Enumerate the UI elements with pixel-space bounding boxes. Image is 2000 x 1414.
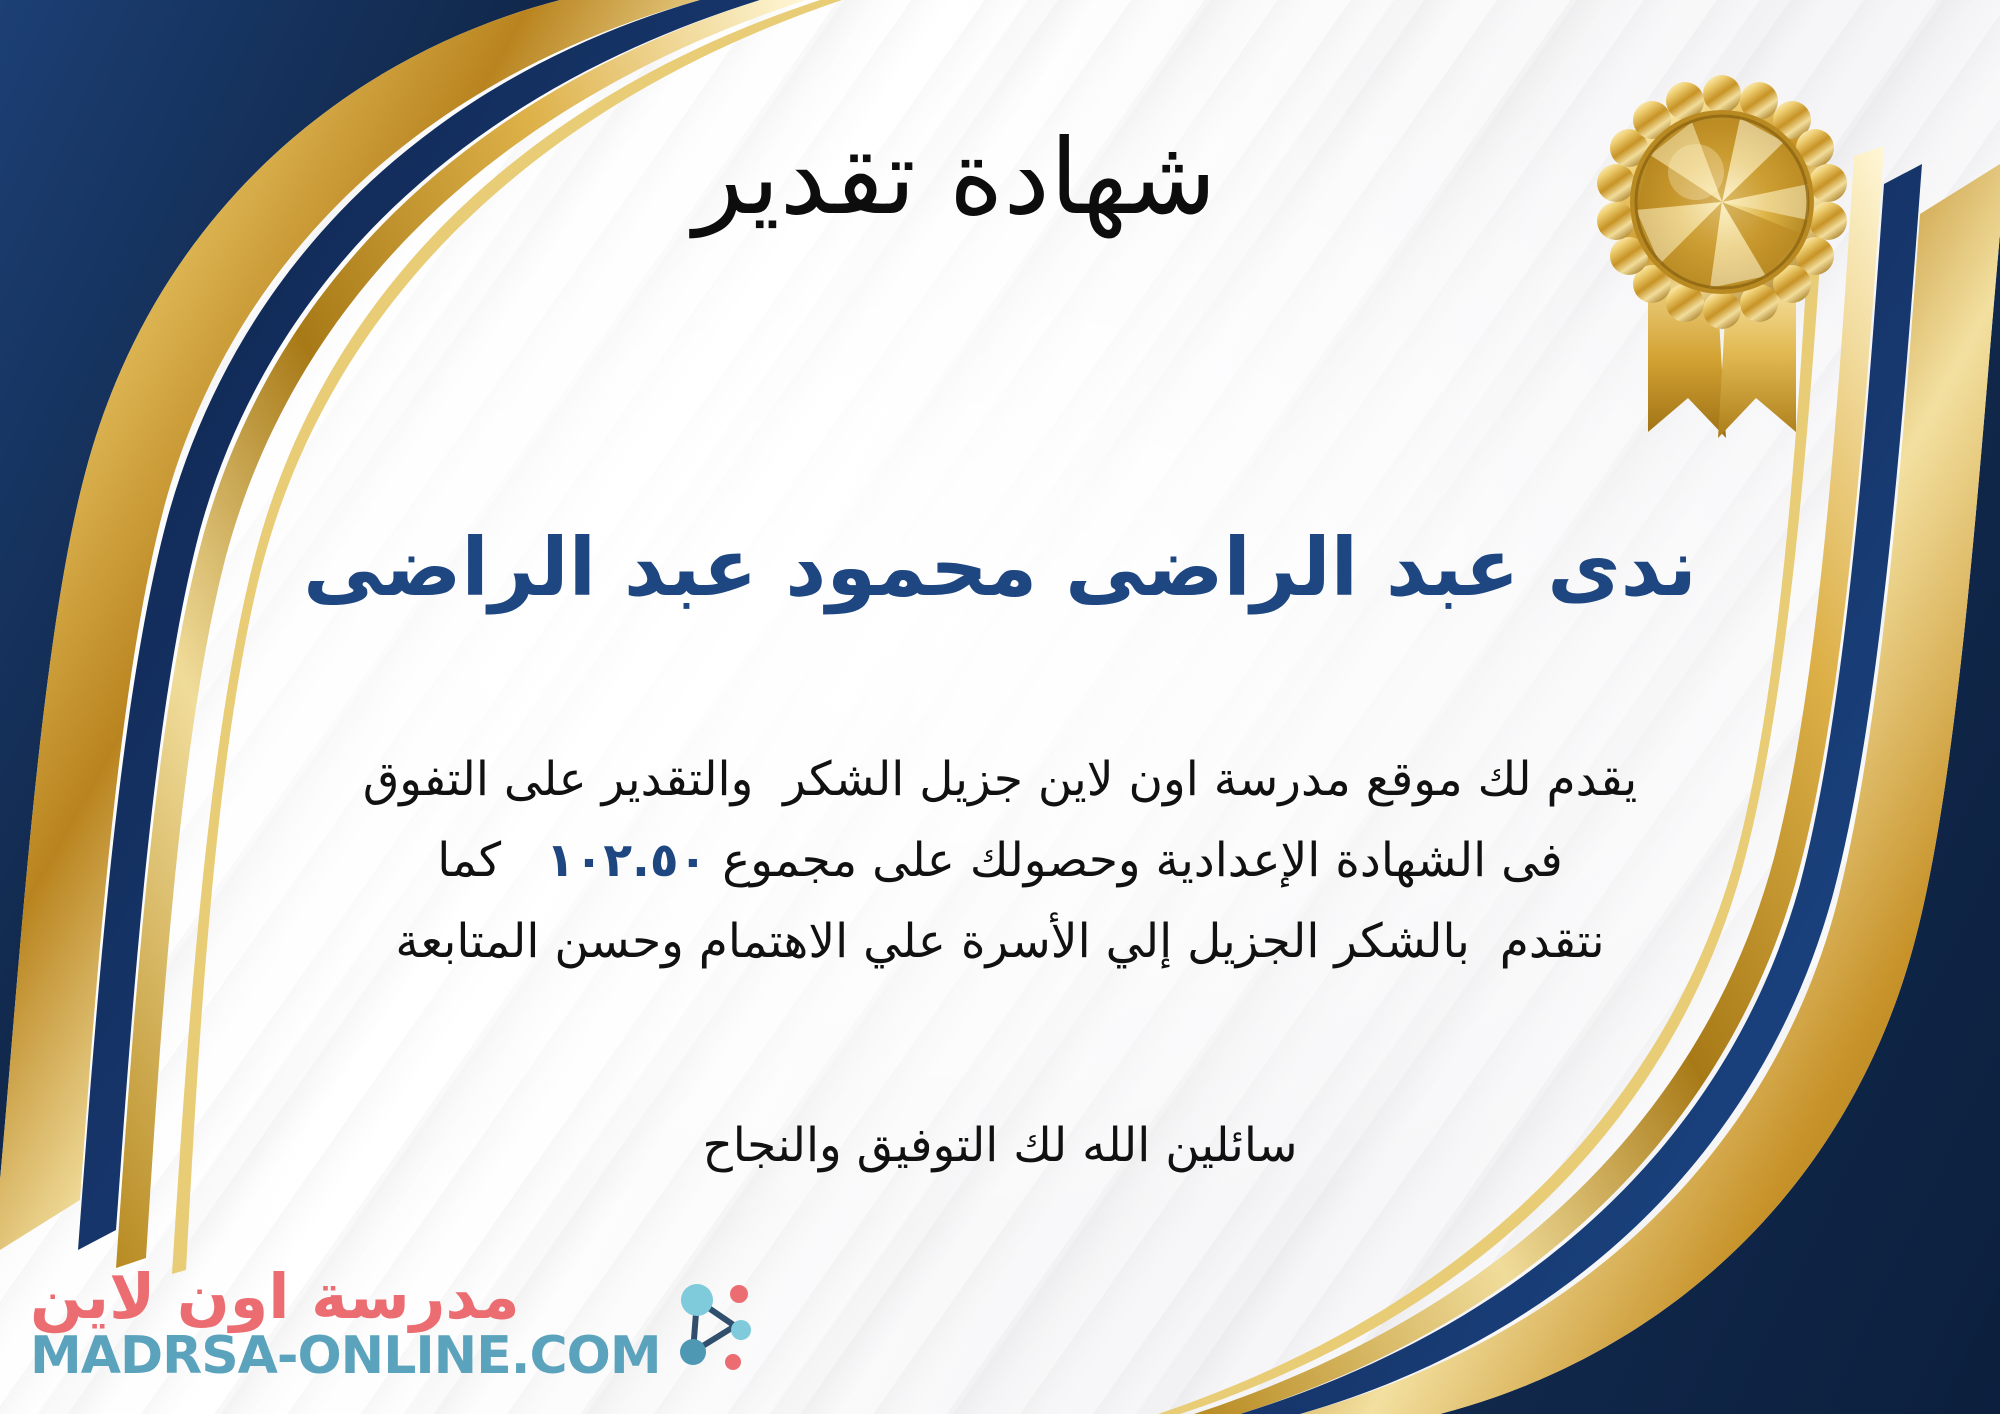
recipient-name: ندى عبد الراضى محمود عبد الراضى xyxy=(0,520,2000,616)
score-value: ١٠٢.٥٠ xyxy=(546,833,707,888)
body-line-2-prefix: فى الشهادة الإعدادية وحصولك على مجموع xyxy=(707,833,1562,888)
site-logo[interactable]: مدرسة اون لاين MADRSA-ONLINE.COM xyxy=(30,1264,767,1384)
network-nodes-icon xyxy=(671,1270,767,1378)
logo-text-block: مدرسة اون لاين MADRSA-ONLINE.COM xyxy=(30,1264,661,1384)
certificate-canvas: شهادة تقدير ندى عبد الراضى محمود عبد الر… xyxy=(0,0,2000,1414)
closing-line: سائلين الله لك التوفيق والنجاح xyxy=(0,1108,2000,1183)
body-line-2-suffix: كما xyxy=(437,833,546,888)
logo-arabic-name: مدرسة اون لاين xyxy=(30,1264,520,1329)
body-line-3: نتقدم بالشكر الجزيل إلي الأسرة علي الاهت… xyxy=(80,902,1920,983)
body-line-2: فى الشهادة الإعدادية وحصولك على مجموع ١٠… xyxy=(80,821,1920,902)
certificate-title: شهادة تقدير xyxy=(0,118,2000,238)
body-line-1: يقدم لك موقع مدرسة اون لاين جزيل الشكر و… xyxy=(80,740,1920,821)
certificate-body: يقدم لك موقع مدرسة اون لاين جزيل الشكر و… xyxy=(80,740,1920,982)
logo-website: MADRSA-ONLINE.COM xyxy=(30,1329,661,1384)
